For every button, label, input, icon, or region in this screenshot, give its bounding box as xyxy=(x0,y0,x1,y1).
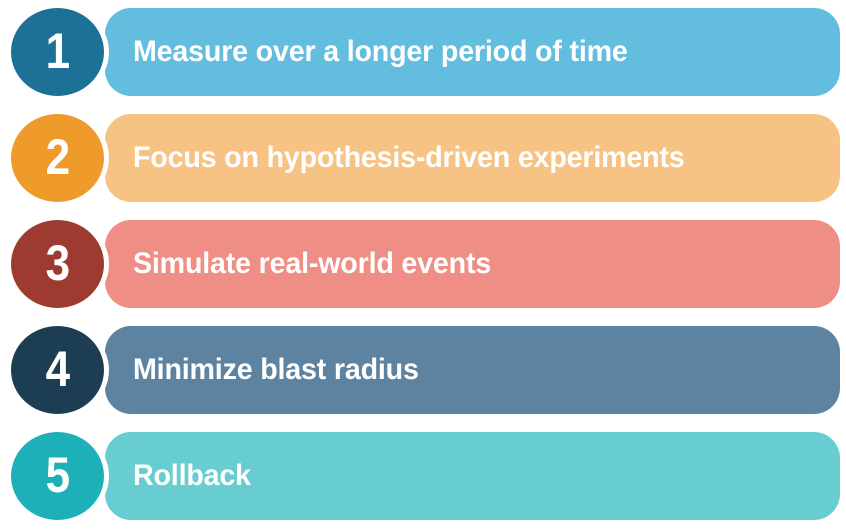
list-item-number: 4 xyxy=(45,344,69,397)
list-item-number-badge: 2 xyxy=(11,114,104,202)
list-item-number: 1 xyxy=(45,26,69,79)
list-item-label: Minimize blast radius xyxy=(133,326,802,414)
numbered-list: 1Measure over a longer period of time2Fo… xyxy=(0,0,846,528)
list-item-label: Focus on hypothesis-driven experiments xyxy=(133,114,802,202)
list-item-number: 5 xyxy=(45,450,69,503)
list-item-number-badge: 3 xyxy=(11,220,104,308)
list-item-number-badge: 1 xyxy=(11,8,104,96)
list-item-number-badge: 4 xyxy=(11,326,104,414)
list-item-label: Rollback xyxy=(133,432,802,520)
list-item-label: Measure over a longer period of time xyxy=(133,8,802,96)
list-item-number: 3 xyxy=(45,238,69,291)
list-item-number-badge: 5 xyxy=(11,432,104,520)
list-item[interactable]: 4Minimize blast radius xyxy=(0,318,846,424)
list-item[interactable]: 3Simulate real-world events xyxy=(0,212,846,318)
list-item[interactable]: 1Measure over a longer period of time xyxy=(0,0,846,106)
list-item-label: Simulate real-world events xyxy=(133,220,802,308)
list-item[interactable]: 2Focus on hypothesis-driven experiments xyxy=(0,106,846,212)
list-item[interactable]: 5Rollback xyxy=(0,424,846,530)
list-item-number: 2 xyxy=(45,132,69,185)
